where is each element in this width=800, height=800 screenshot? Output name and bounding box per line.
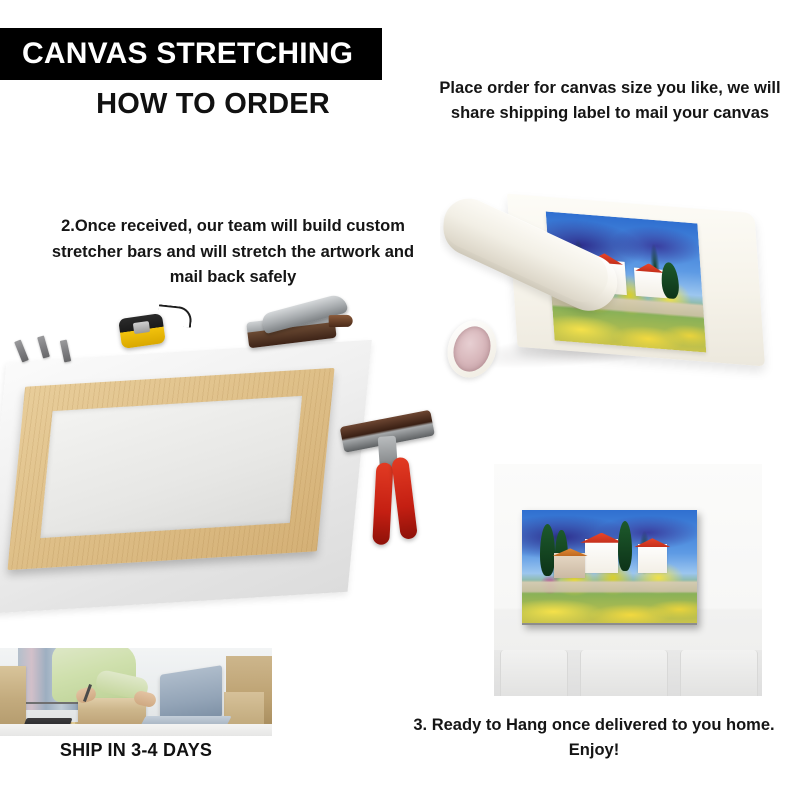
ship-days-label: SHIP IN 3-4 DAYS xyxy=(0,740,272,761)
staple-icon xyxy=(37,335,50,358)
canvas-pliers-icon xyxy=(341,415,446,553)
sofa-cushion xyxy=(500,650,568,696)
step-1-text: Place order for canvas size you like, we… xyxy=(432,76,788,126)
title-banner: CANVAS STRETCHING xyxy=(0,28,382,80)
hanging-stretched-canvas xyxy=(522,510,697,625)
sofa-cushion xyxy=(580,650,668,696)
cypress-icon xyxy=(618,521,632,571)
tape-measure-hub xyxy=(133,321,150,334)
desk-surface xyxy=(0,724,272,736)
roof-shape xyxy=(631,538,675,547)
house-shape xyxy=(638,544,668,573)
infographic-canvas: CANVAS STRETCHING HOW TO ORDER Place ord… xyxy=(0,0,800,800)
wooden-stretcher-frame xyxy=(7,368,334,570)
frame-inner-canvas xyxy=(40,396,302,538)
page-title: CANVAS STRETCHING xyxy=(0,37,353,71)
step-2-text: 2.Once received, our team will build cus… xyxy=(48,214,418,291)
staple-icon xyxy=(14,339,29,362)
landscape-painting-art xyxy=(522,510,697,623)
staple-gun-tip xyxy=(329,315,353,327)
pliers-grip xyxy=(372,462,393,545)
cardboard-box-stack xyxy=(224,692,264,728)
cardboard-box-stack xyxy=(0,666,26,726)
packing-box-photo xyxy=(0,648,272,736)
sofa-cushion xyxy=(680,650,758,696)
rolled-canvas-photo xyxy=(440,178,790,406)
step-3-text: 3. Ready to Hang once delivered to you h… xyxy=(388,713,800,763)
house-shape xyxy=(585,539,618,573)
wall-canvas-photo xyxy=(494,464,762,696)
cypress-icon xyxy=(661,262,680,299)
pliers-grip xyxy=(391,457,418,540)
sofa xyxy=(494,650,762,696)
page-subtitle: HOW TO ORDER xyxy=(48,88,378,121)
house-shape xyxy=(554,553,586,578)
